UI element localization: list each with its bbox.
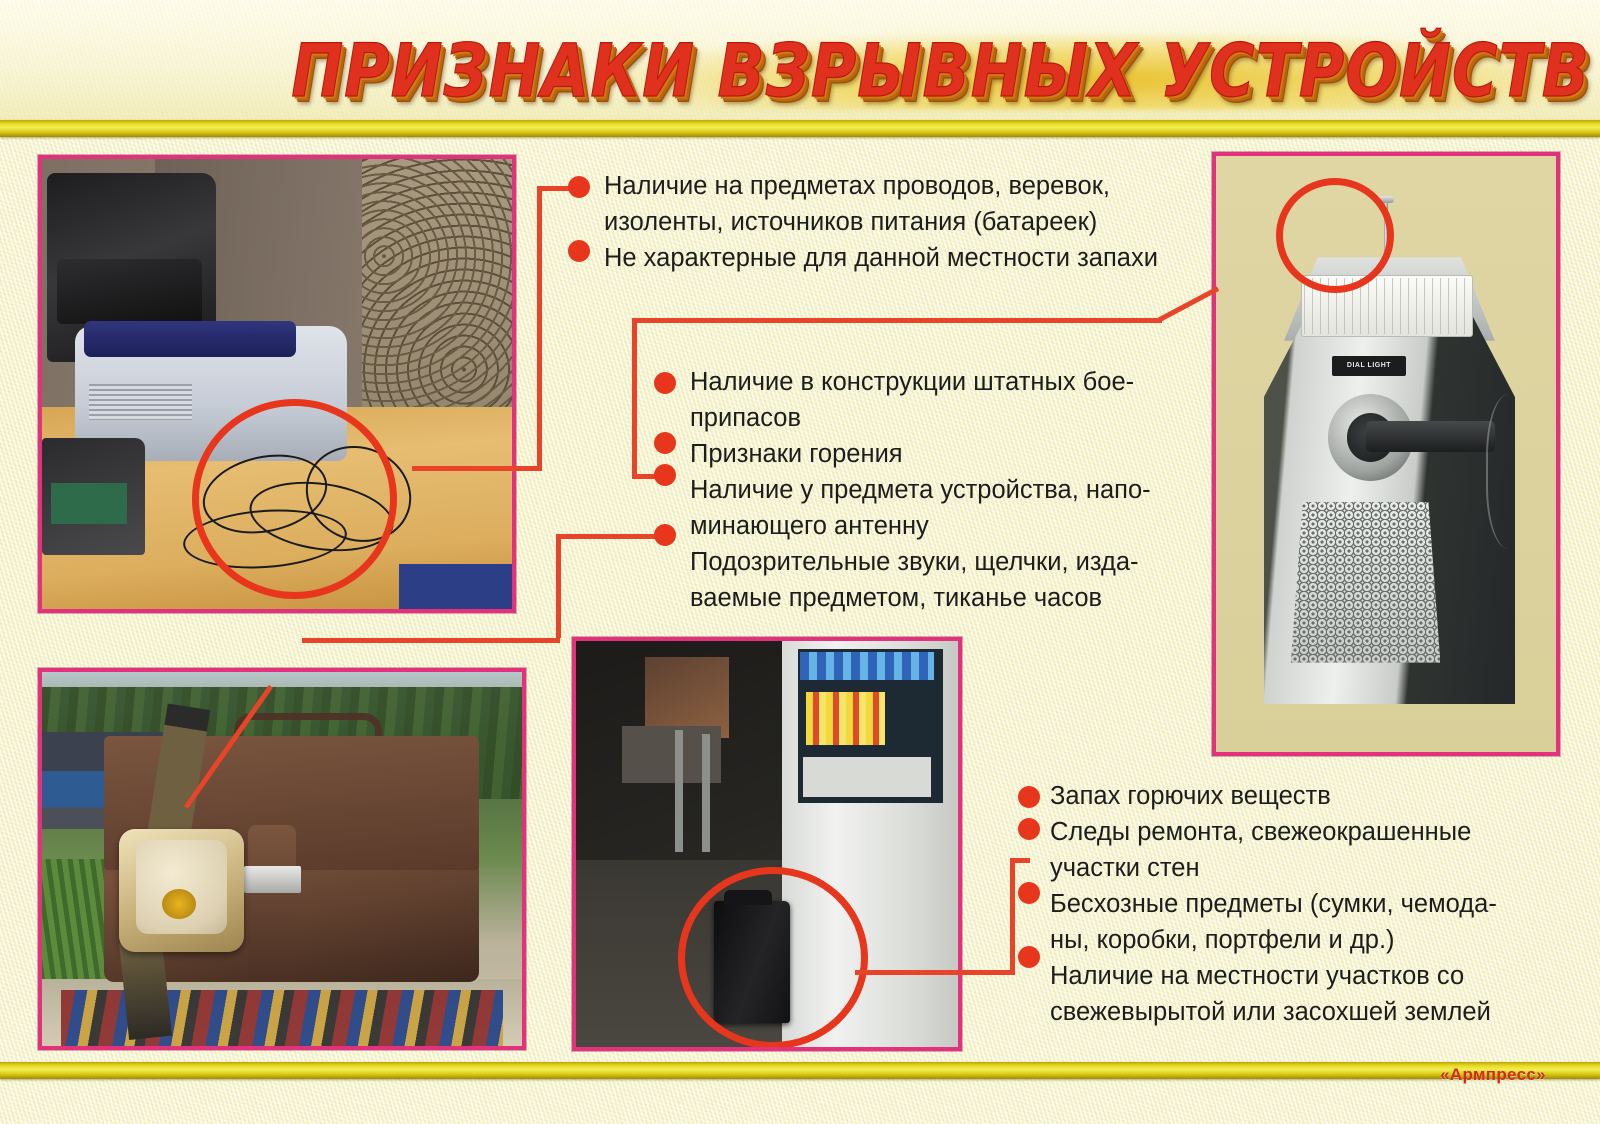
p1-boombox-vent <box>89 384 192 420</box>
text-line: Наличие в конструкции штатных бое- <box>690 364 1210 400</box>
p2-speaker-grille <box>1291 502 1441 663</box>
p1-blue-folder <box>399 564 512 609</box>
text-line: Наличие на местности участков со <box>1050 958 1570 994</box>
p3-tourbillon <box>162 889 196 919</box>
text-line: ны, коробки, портфели и др.) <box>1050 922 1570 958</box>
text-line: Не характерные для данной местности запа… <box>604 240 1224 276</box>
photo-watch-briefcase <box>38 668 526 1050</box>
text-block-bottom: Запах горючих веществ Следы ремонта, све… <box>1050 778 1570 1030</box>
p2-dial-light-badge: DIAL LIGHT <box>1332 356 1407 376</box>
p3-briefcase-strap <box>248 825 296 982</box>
connector-sound-h <box>556 534 666 539</box>
bullet-3-4 <box>1018 946 1040 968</box>
text-line: участки стен <box>1050 850 1570 886</box>
bullet-3-3 <box>1018 882 1040 904</box>
p3-watch-dial <box>136 840 227 934</box>
text-line: Признаки горения <box>690 436 1210 472</box>
bullet-2-1 <box>654 372 676 394</box>
bullet-3-2 <box>1018 818 1040 840</box>
highlight-circle-wires <box>192 399 397 599</box>
bullet-1-1 <box>568 176 590 198</box>
connector-mid-vertical <box>632 318 637 478</box>
poster-title: ПРИЗНАКИ ВЗРЫВНЫХ УСТРОЙСТВ <box>600 11 1596 129</box>
p1-boombox-lid <box>84 321 296 357</box>
text-line: Подозрительные звуки, щелчки, изда- <box>690 544 1210 580</box>
bullet-2-4 <box>654 524 676 546</box>
bullet-3-1 <box>1018 786 1040 808</box>
connector-top-vertical <box>537 186 542 471</box>
p3-briefcase-buckle <box>244 866 302 892</box>
text-line: Бесхозные предметы (сумки, чемода- <box>1050 886 1570 922</box>
p1-green-book <box>51 483 126 524</box>
p4-barrier-post-1 <box>675 730 683 852</box>
highlight-circle-antenna <box>1276 178 1394 293</box>
poster-root: ПРИЗНАКИ ВЗРЫВНЫХ УСТРОЙСТВ DIAL LIGHT <box>0 0 1600 1124</box>
p4-product-rack <box>806 692 884 744</box>
p4-barrier-post-2 <box>702 734 710 852</box>
connector-sound-v <box>556 534 561 638</box>
connector-sound-h2 <box>302 638 560 643</box>
text-block-middle: Наличие в конструкции штатных бое- припа… <box>690 364 1210 616</box>
connector-bottom-h <box>855 970 1015 975</box>
photo-boombox-wires <box>38 155 516 613</box>
p2-dial-light-label: DIAL LIGHT <box>1347 362 1391 369</box>
bullet-2-2 <box>654 432 676 454</box>
connector-mid-diagonal <box>1157 286 1219 322</box>
connector-mid-h <box>632 318 1162 323</box>
p2-side-control <box>1486 394 1542 549</box>
photo-radio-antenna: DIAL LIGHT <box>1212 152 1560 756</box>
title-band: ПРИЗНАКИ ВЗРЫВНЫХ УСТРОЙСТВ <box>600 20 1590 120</box>
highlight-circle-abandoned-case <box>678 867 868 1049</box>
text-line: Наличие у предмета устройства, напо- <box>690 472 1210 508</box>
connector-top-lower-h <box>412 466 542 471</box>
text-line: припасов <box>690 400 1210 436</box>
text-line: ваемые предметом, тиканье часов <box>690 580 1210 616</box>
text-line: Запах горючих веществ <box>1050 778 1570 814</box>
text-block-top: Наличие на предметах проводов, веревок, … <box>604 168 1224 276</box>
text-line: свежевырытой или засохшей землей <box>1050 994 1570 1030</box>
p4-display-window <box>798 649 943 803</box>
gold-bar-bottom <box>0 1062 1600 1079</box>
text-line: Наличие на предметах проводов, веревок, <box>604 168 1224 204</box>
connector-bottom-stub <box>1010 858 1030 863</box>
publisher-logo: «Армпресс» <box>1408 1064 1578 1086</box>
p4-window-banner <box>800 652 934 680</box>
p2-crank-handle <box>1366 421 1495 452</box>
text-line: изоленты, источников питания (батареек) <box>604 204 1224 240</box>
bullet-2-3 <box>654 464 676 486</box>
connector-bottom-v <box>1010 858 1015 972</box>
p4-window-counter <box>803 757 931 797</box>
photo-abandoned-briefcase <box>572 637 962 1051</box>
bullet-1-2 <box>568 240 590 262</box>
text-line: минающего антенну <box>690 508 1210 544</box>
text-line: Следы ремонта, свежеокрашенные <box>1050 814 1570 850</box>
